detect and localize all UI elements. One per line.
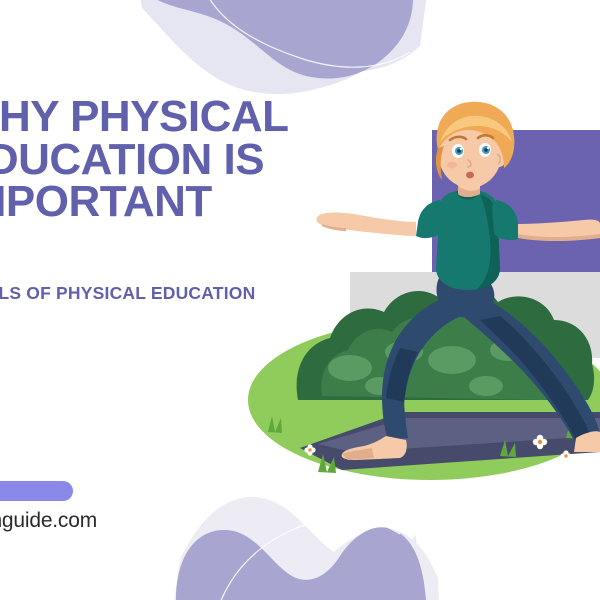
cheek-blush: [447, 162, 457, 169]
mouth: [466, 172, 474, 179]
right-eye: [479, 143, 491, 157]
page-title: WHY PHYSICAL EDUCATION IS IMPORTANT: [0, 96, 378, 224]
left-sleeve: [416, 200, 444, 238]
title-line-3: IMPORTANT: [0, 181, 378, 224]
site-url: openguide.com: [0, 509, 97, 533]
title-line-2: EDUCATION IS: [0, 139, 378, 182]
footer-accent-pill: [0, 481, 73, 501]
title-line-1: WHY PHYSICAL: [0, 96, 378, 139]
left-eye: [452, 144, 464, 158]
poster-canvas: WHY PHYSICAL EDUCATION IS IMPORTANT GOAL…: [0, 0, 600, 600]
page-subtitle: GOALS OF PHYSICAL EDUCATION: [0, 283, 255, 304]
